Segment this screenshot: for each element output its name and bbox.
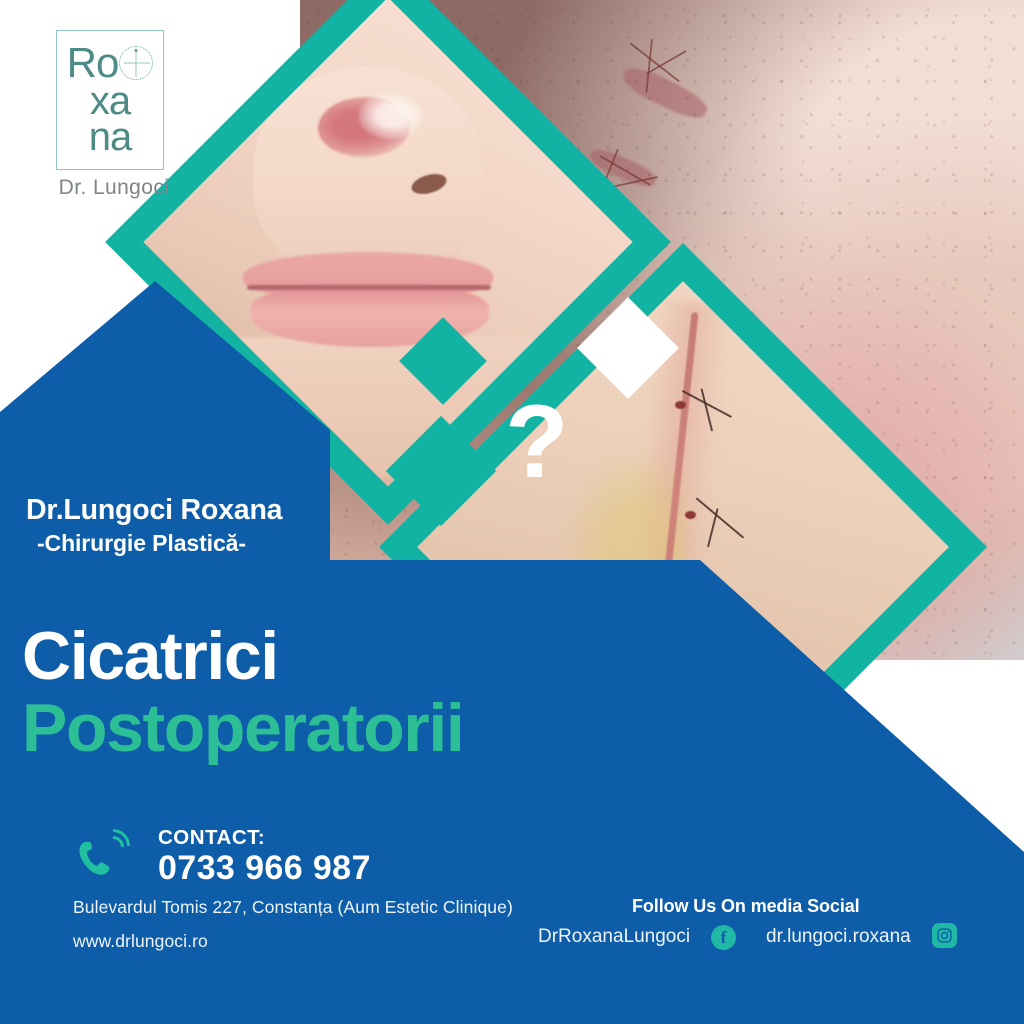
instagram-glyph — [936, 927, 953, 944]
brand-logo: Ro xa na Dr. Lungoci — [34, 24, 194, 204]
facebook-handle[interactable]: DrRoxanaLungoci — [538, 926, 690, 948]
title-line-2: Postoperatorii — [22, 694, 463, 762]
facebook-icon[interactable]: f — [711, 925, 736, 950]
logo-line-xa: xa — [90, 83, 130, 120]
suture-knot — [675, 401, 686, 409]
instagram-handle[interactable]: dr.lungoci.roxana — [766, 926, 911, 948]
contact-address: Bulevardul Tomis 227, Constanța (Aum Est… — [73, 897, 513, 918]
suture-thread — [629, 42, 679, 82]
logo-doctor-name: Dr. Lungoci — [34, 176, 194, 200]
wound-mark — [619, 62, 711, 125]
phone-call-icon — [72, 828, 138, 890]
logo-wordmark: Ro xa na — [56, 30, 164, 170]
suture-thread — [646, 50, 687, 75]
doctor-name: Dr.Lungoci Roxana — [26, 494, 282, 527]
lesion-highlight — [358, 93, 424, 139]
contact-phone-number[interactable]: 0733 966 987 — [158, 849, 371, 888]
contact-website[interactable]: www.drlungoci.ro — [73, 931, 208, 952]
doctor-specialty: -Chirurgie Plastică- — [37, 530, 246, 557]
promotional-poster: ? Ro xa na Dr. Lungoci Dr.Lungoci Roxana… — [0, 0, 1024, 1024]
title-line-1: Cicatrici — [22, 622, 278, 690]
logo-letters-r: Ro — [67, 44, 119, 83]
question-mark: ? — [505, 390, 569, 494]
compass-circle-icon — [119, 46, 153, 80]
lip-line — [247, 285, 491, 290]
logo-line-ro: Ro — [67, 44, 154, 83]
suture-knot — [685, 511, 696, 519]
social-section-title: Follow Us On media Social — [632, 896, 860, 917]
contact-label: CONTACT: — [158, 826, 265, 850]
compass-dot — [135, 49, 138, 52]
suture-thread — [645, 39, 653, 93]
logo-line-na: na — [89, 119, 132, 156]
suture-thread — [611, 176, 658, 188]
instagram-icon[interactable] — [932, 923, 957, 948]
